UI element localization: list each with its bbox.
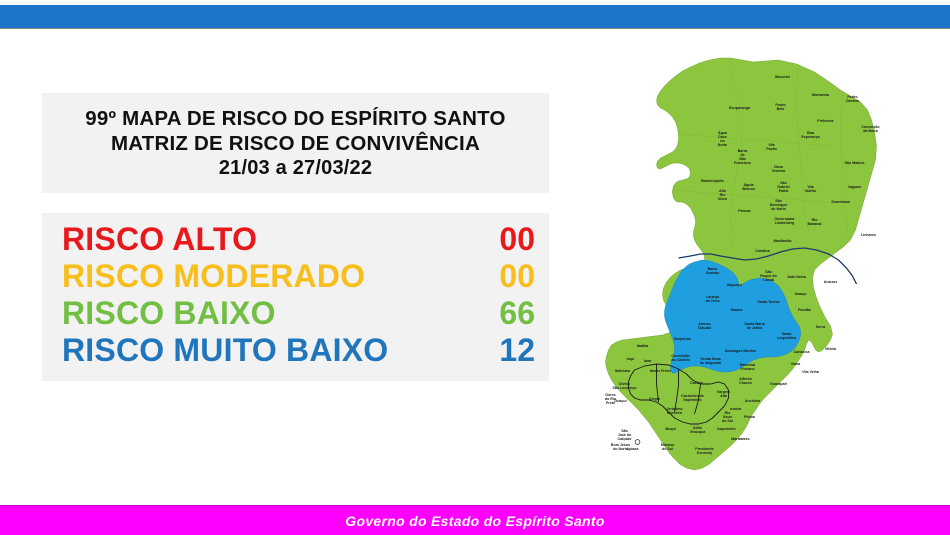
municipality-label: Valério [805,189,818,193]
municipality-label: Belo [777,107,786,111]
municipality-label: Sooretama [831,200,851,204]
municipality-label: do Norte [771,207,786,211]
municipality-label: da Terra [706,299,721,303]
legend-value-risco-moderado: 00 [499,258,535,294]
municipality-label: Chaves [739,381,752,385]
municipality-label: Irupi [627,357,635,361]
municipality-label: Anchieta [745,399,761,403]
municipality-label: Guarapari [770,382,787,386]
municipality-label: São Lourenço [613,386,638,390]
municipality-label: Leopoldina [777,336,797,340]
footer-bar: Governo do Estado do Espírito Santo [0,505,950,535]
title-line-2: MATRIZ DE RISCO DE CONVIVÊNCIA [111,131,480,156]
municipality-label: do Norte [613,447,628,451]
municipality-label: Iúna [644,359,652,363]
municipality-label: João Neiva [787,275,807,279]
footer-text: Governo do Estado do Espírito Santo [345,513,604,529]
municipality-label: Itapemirim [717,427,735,431]
municipality-label: Itapemirim [683,398,701,402]
municipality-label: Alegre [649,397,660,401]
legend-value-risco-baixo: 66 [499,295,535,331]
municipality-label: Vitória [825,347,837,351]
municipality-label: Ibatiba [637,344,650,348]
municipality-label: Cláudio [698,326,712,330]
municipality-label: Alta [720,394,728,398]
municipality-label: Montanha [812,93,830,97]
municipality-label: Norte [718,143,727,147]
municipality-label: Francisco [734,161,752,165]
municipality-label: Floriano [740,367,755,371]
municipality-label: Ibitirama [615,369,631,373]
legend-row-risco-muito-baixo: RISCO MUITO BAIXO 12 [42,332,549,369]
municipality-label: Brejetuba [674,337,692,341]
municipality-label: Lindenberg [775,221,795,225]
municipality-label: Cariacica [794,350,811,354]
espirito-santo-map: MucuriciMontanhaPedroCanárioEcoporangaPo… [545,40,950,490]
municipality-label: Canário [846,99,860,103]
title-card: 99º MAPA DE RISCO DO ESPÍRITO SANTO MATR… [42,93,549,193]
risk-legend-card: RISCO ALTO 00 RISCO MODERADO 00 RISCO BA… [42,213,549,381]
municipality-label: do Sul [722,419,733,423]
map-svg: MucuriciMontanhaPedroCanárioEcoporangaPo… [545,40,950,490]
municipality-label: Kennedy [697,451,712,455]
municipality-label: Marataízes [731,437,749,441]
municipality-label: Linhares [861,233,876,237]
municipality-label: Jaguaré [848,185,862,189]
legend-row-risco-alto: RISCO ALTO 00 [42,221,549,258]
municipality-label: Palha [779,189,790,193]
municipality-label: Guandu [706,271,720,275]
municipality-label: Mantenópolis [701,179,724,183]
municipality-label: Branca [742,187,755,191]
municipality-label: Muqui [665,427,676,431]
municipality-label: Itaguaçu [727,283,742,287]
municipality-label: Preto [606,401,616,405]
municipality-label: Esperança [801,135,820,139]
municipality-label: Venécia [772,169,786,173]
legend-value-risco-muito-baixo: 12 [499,332,535,368]
legend-value-risco-alto: 00 [499,221,535,257]
south-detail-circle [635,440,640,445]
municipality-label: Monteiro [667,411,683,415]
municipality-label: de Jetibá [747,326,763,330]
municipality-label: São Mateus [845,161,865,165]
municipality-label: Vivácqua [690,430,707,434]
municipality-label: Mucurici [775,75,790,79]
municipality-label: Novo [718,197,728,201]
municipality-label: Colatina [755,249,770,253]
legend-row-risco-baixo: RISCO BAIXO 66 [42,295,549,332]
municipality-label: Domingos Martins [725,349,756,353]
title-line-1: 99º MAPA DE RISCO DO ESPÍRITO SANTO [85,106,505,131]
municipality-label: Apiacá [627,447,639,451]
vitoria-island [819,348,822,351]
municipality-label: Pancas [738,209,751,213]
municipality-label: Canaã [763,278,774,282]
municipality-label: Calçado [618,437,633,441]
municipality-label: Santa Teresa [757,300,780,304]
legend-row-risco-moderado: RISCO MODERADO 00 [42,258,549,295]
municipality-label: Pavão [766,147,777,151]
municipality-label: Muniz Freire [650,369,671,373]
municipality-label: Piúma [744,415,756,419]
municipality-label: Ibiraçu [795,292,807,296]
municipality-label: Viana [791,362,802,366]
risk-map-slide: 99º MAPA DE RISCO DO ESPÍRITO SANTO MATR… [0,0,950,534]
municipality-label: Castelo [690,381,704,385]
municipality-label: Itarana [731,308,744,312]
municipality-label: Vila Velha [802,370,820,374]
municipality-label: Guaçuí [614,399,627,403]
legend-label-risco-alto: RISCO ALTO [62,221,257,257]
municipality-label: da Barra [863,129,879,133]
municipality-label: Iconha [730,407,743,411]
municipality-label: Marilândia [774,239,793,243]
title-line-3: 21/03 a 27/03/22 [219,156,372,181]
legend-label-risco-muito-baixo: RISCO MUITO BAIXO [62,332,388,368]
municipality-label: Serra [816,325,826,329]
municipality-label: Aracruz [824,280,838,284]
municipality-label: Fundão [798,308,812,312]
municipality-label: Pinheiros [817,119,833,123]
legend-label-risco-moderado: RISCO MODERADO [62,258,365,294]
municipality-label: Ecoporanga [729,106,751,110]
municipality-label: do Sul [662,447,673,451]
municipality-label: do Castelo [671,358,690,362]
municipality-label: do Imigrante [700,361,722,365]
legend-label-risco-baixo: RISCO BAIXO [62,295,276,331]
municipality-label: Bananal [808,222,822,226]
top-accent-bar [0,5,950,29]
